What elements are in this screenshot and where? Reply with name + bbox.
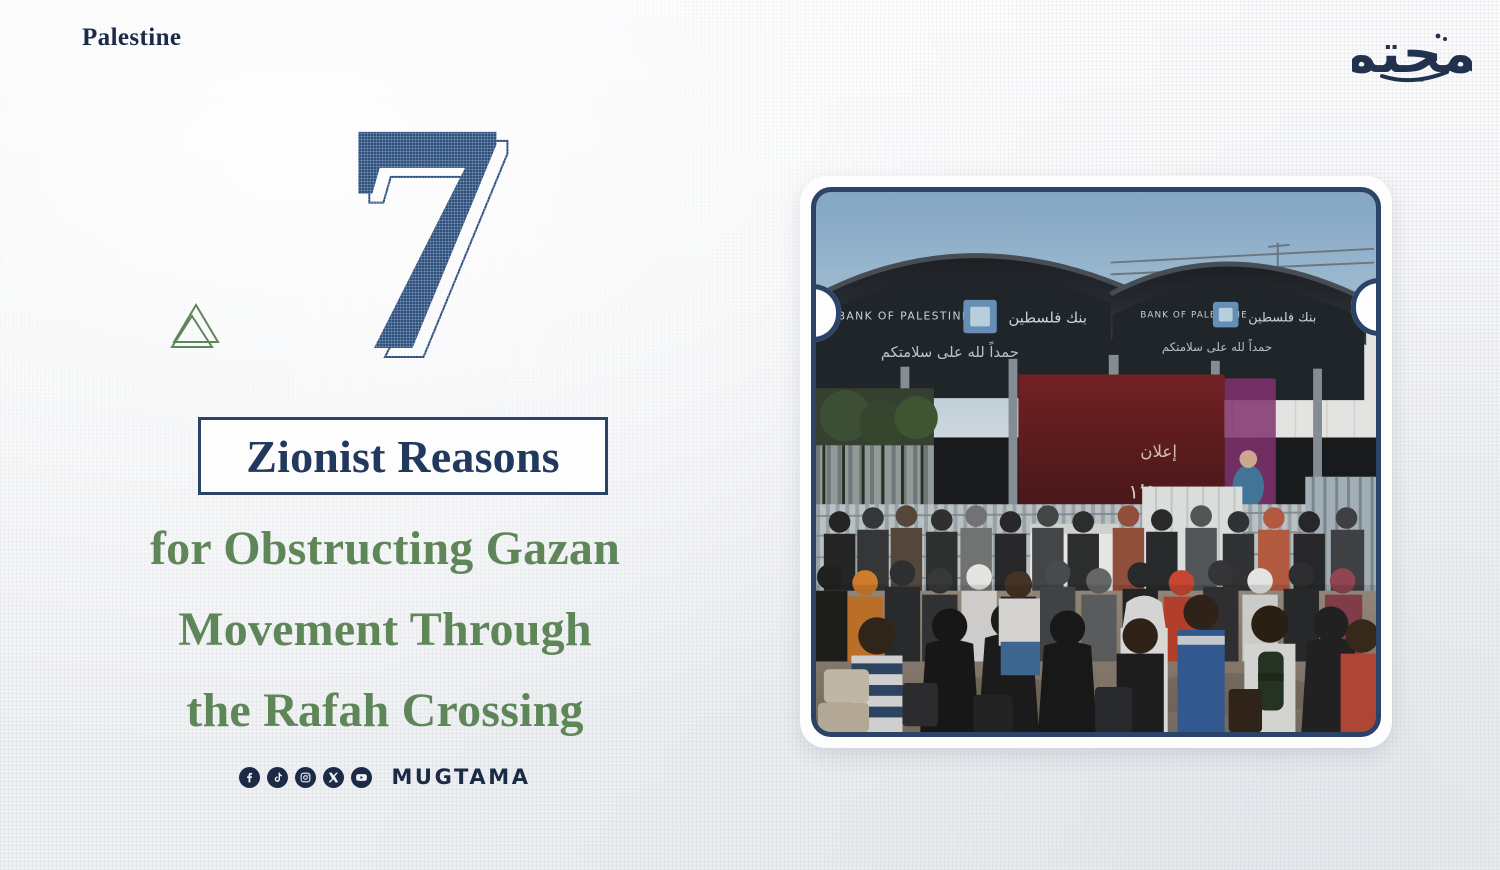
big-number: 7 7 [295, 88, 545, 398]
x-twitter-icon[interactable] [323, 767, 344, 788]
green-headline-line-3: the Rafah Crossing [0, 670, 770, 751]
tiktok-icon[interactable] [267, 767, 288, 788]
boxed-headline-text: Zionist Reasons [246, 430, 560, 483]
green-headline-line-2: Movement Through [0, 589, 770, 670]
photo-frame: BANK OF PALESTINE بنك فلسطين حمداً لله ع… [811, 187, 1381, 737]
big-number-fill: 7 [295, 88, 545, 398]
page-kicker: Palestine [82, 24, 181, 52]
headline-column: 7 7 Zionist Reasons for Obstructing Gaza… [0, 0, 770, 870]
poster-canvas: Palestine المجتمع 7 7 Zionist Reasons fo… [0, 0, 1500, 870]
double-triangle-icon [168, 300, 224, 352]
green-headline: for Obstructing Gazan Movement Through t… [0, 508, 770, 751]
photo-card: BANK OF PALESTINE بنك فلسطين حمداً لله ع… [800, 176, 1392, 748]
mugtama-arabic-logo: المجتمع [1352, 14, 1472, 94]
brand-handle: MUGTAMA [391, 765, 530, 789]
instagram-icon[interactable] [295, 767, 316, 788]
green-headline-line-1: for Obstructing Gazan [0, 508, 770, 589]
youtube-icon[interactable] [351, 767, 372, 788]
logo-arabic-glyphs: المجتمع [1352, 21, 1472, 85]
facebook-icon[interactable] [239, 767, 260, 788]
social-footer: MUGTAMA [0, 765, 770, 789]
rafah-crossing-photo: BANK OF PALESTINE بنك فلسطين حمداً لله ع… [816, 192, 1376, 732]
